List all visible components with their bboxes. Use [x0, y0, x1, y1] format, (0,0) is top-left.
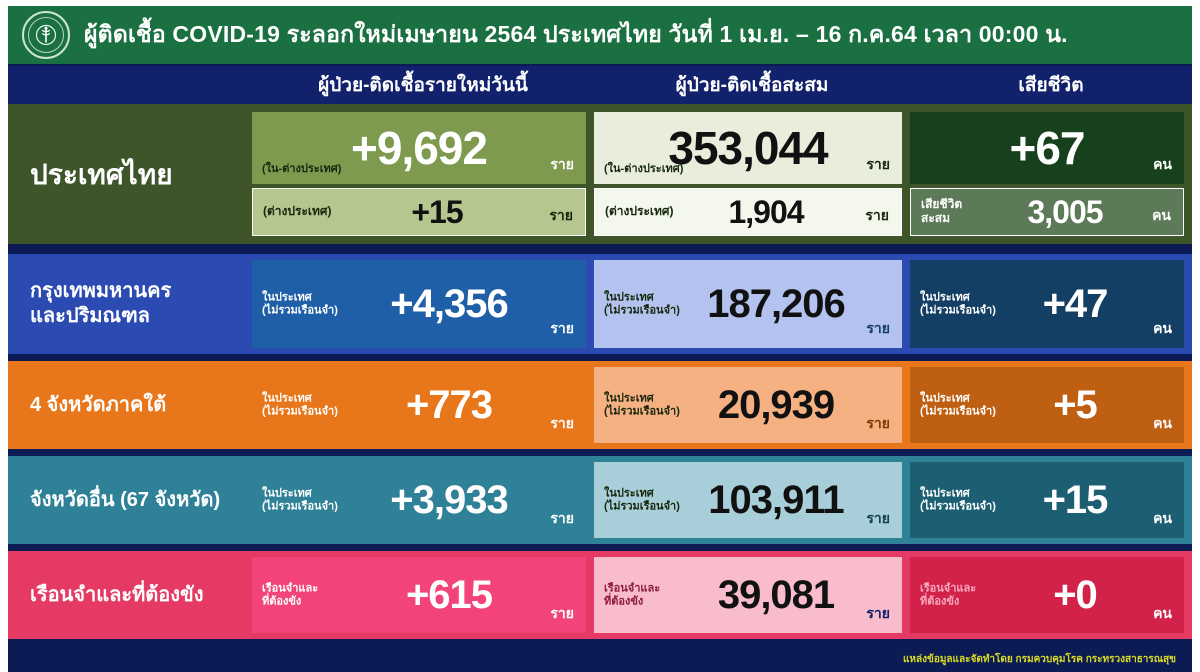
prison-deaths-value: +0	[1053, 573, 1097, 618]
column-header-cumulative-cases: ผู้ป่วย-ติดเชื้อสะสม	[594, 70, 910, 100]
thailand-deaths-cumulative-tag: เสียชีวิต สะสม	[921, 198, 962, 226]
cell-prison-deaths: เรือนจำและ ที่ต้องขัง +0 คน	[910, 557, 1184, 633]
cell-other-cumulative-cases: ในประเทศ (ไม่รวมเรือนจำ) 103,911 ราย	[594, 462, 902, 538]
thailand-new-domestic-unit: ราย	[550, 154, 574, 176]
thailand-new-domestic-tag: (ใน-ต่างประเทศ)	[262, 163, 341, 176]
thailand-new-domestic-value: +9,692	[351, 121, 487, 175]
cell-bangkok-cumulative-cases: ในประเทศ (ไม่รวมเรือนจำ) 187,206 ราย	[594, 260, 902, 348]
cell-bangkok-new-cases: ในประเทศ (ไม่รวมเรือนจำ) +4,356 ราย	[252, 260, 586, 348]
thailand-cumulative-domestic-tag: (ใน-ต่างประเทศ)	[604, 163, 683, 176]
row-label-prisons: เรือนจำและที่ต้องขัง	[8, 551, 252, 639]
other-deaths-value: +15	[1043, 478, 1108, 523]
row-label-bangkok: กรุงเทพมหานคร และปริมณฑล	[8, 254, 252, 354]
thailand-cumulative-domestic-box: (ใน-ต่างประเทศ) 353,044 ราย	[594, 112, 902, 184]
table-row-bangkok: กรุงเทพมหานคร และปริมณฑล ในประเทศ (ไม่รว…	[8, 254, 1192, 354]
bangkok-deaths-unit: คน	[1153, 318, 1172, 340]
cell-other-deaths: ในประเทศ (ไม่รวมเรือนจำ) +15 คน	[910, 462, 1184, 538]
south-deaths-unit: คน	[1153, 413, 1172, 435]
source-attribution: แหล่งข้อมูลและจัดทำโดย กรมควบคุมโรค กระท…	[903, 652, 1176, 667]
prison-cumulative-value: 39,081	[718, 573, 834, 618]
table-row-thailand: ประเทศไทย (ใน-ต่างประเทศ) +9,692 ราย (ต่…	[8, 104, 1192, 244]
other-deaths-unit: คน	[1153, 508, 1172, 530]
thailand-cumulative-domestic-unit: ราย	[866, 154, 890, 176]
thailand-new-abroad-unit: ราย	[549, 205, 573, 227]
cell-thailand-cumulative-cases: (ใน-ต่างประเทศ) 353,044 ราย (ต่างประเทศ)…	[594, 112, 902, 236]
cell-thailand-new-cases: (ใน-ต่างประเทศ) +9,692 ราย (ต่างประเทศ) …	[252, 112, 586, 236]
bangkok-new-value: +4,356	[390, 282, 507, 327]
other-cumulative-value: 103,911	[708, 478, 843, 523]
thailand-deaths-new-value: +67	[1009, 121, 1084, 175]
thailand-deaths-new-unit: คน	[1153, 154, 1172, 176]
bangkok-cumulative-value: 187,206	[707, 282, 845, 327]
prison-new-unit: ราย	[550, 603, 574, 625]
row-label-thailand: ประเทศไทย	[8, 104, 252, 244]
cell-bangkok-deaths: ในประเทศ (ไม่รวมเรือนจำ) +47 คน	[910, 260, 1184, 348]
bangkok-cumulative-unit: ราย	[866, 318, 890, 340]
column-header-deaths: เสียชีวิต	[910, 70, 1192, 100]
thailand-deaths-cumulative-value: 3,005	[1027, 194, 1102, 231]
thailand-cumulative-abroad-unit: ราย	[865, 205, 889, 227]
ministry-of-public-health-emblem-icon	[22, 11, 70, 59]
cell-prison-new-cases: เรือนจำและ ที่ต้องขัง +615 ราย	[252, 557, 586, 633]
bangkok-deaths-value: +47	[1043, 282, 1108, 327]
prison-cumulative-unit: ราย	[866, 603, 890, 625]
table-row-south-provinces: 4 จังหวัดภาคใต้ ในประเทศ (ไม่รวมเรือนจำ)…	[8, 361, 1192, 449]
thailand-new-abroad-box: (ต่างประเทศ) +15 ราย	[252, 188, 586, 236]
row-label-other-provinces: จังหวัดอื่น (67 จังหวัด)	[8, 456, 252, 544]
thailand-cumulative-abroad-value: 1,904	[728, 194, 803, 231]
south-cumulative-value: 20,939	[718, 383, 834, 428]
bangkok-new-unit: ราย	[550, 318, 574, 340]
table-row-other-provinces: จังหวัดอื่น (67 จังหวัด) ในประเทศ (ไม่รว…	[8, 456, 1192, 544]
thailand-new-abroad-value: +15	[411, 194, 462, 231]
thailand-deaths-cumulative-box: เสียชีวิต สะสม 3,005 คน	[910, 188, 1184, 236]
thailand-new-domestic-box: (ใน-ต่างประเทศ) +9,692 ราย	[252, 112, 586, 184]
column-header-new-cases: ผู้ป่วย-ติดเชื้อรายใหม่วันนี้	[252, 70, 594, 100]
poster-header: ผู้ติดเชื้อ COVID-19 ระลอกใหม่เมษายน 256…	[8, 6, 1192, 66]
cell-south-deaths: ในประเทศ (ไม่รวมเรือนจำ) +5 คน	[910, 367, 1184, 443]
other-cumulative-unit: ราย	[866, 508, 890, 530]
cell-south-cumulative-cases: ในประเทศ (ไม่รวมเรือนจำ) 20,939 ราย	[594, 367, 902, 443]
other-new-value: +3,933	[390, 478, 507, 523]
thailand-deaths-cumulative-unit: คน	[1152, 205, 1171, 227]
page-title: ผู้ติดเชื้อ COVID-19 ระลอกใหม่เมษายน 256…	[84, 17, 1068, 53]
prison-deaths-unit: คน	[1153, 603, 1172, 625]
thailand-cumulative-abroad-box: (ต่างประเทศ) 1,904 ราย	[594, 188, 902, 236]
table-row-prisons: เรือนจำและที่ต้องขัง เรือนจำและ ที่ต้องข…	[8, 551, 1192, 639]
row-label-south-provinces: 4 จังหวัดภาคใต้	[8, 361, 252, 449]
column-header-strip: ผู้ป่วย-ติดเชื้อรายใหม่วันนี้ ผู้ป่วย-ติ…	[8, 66, 1192, 104]
south-deaths-value: +5	[1053, 383, 1097, 428]
poster-footer: แหล่งข้อมูลและจัดทำโดย กรมควบคุมโรค กระท…	[8, 646, 1192, 672]
other-new-unit: ราย	[550, 508, 574, 530]
south-cumulative-unit: ราย	[866, 413, 890, 435]
covid-dashboard-poster: ผู้ติดเชื้อ COVID-19 ระลอกใหม่เมษายน 256…	[8, 6, 1192, 662]
cell-south-new-cases: ในประเทศ (ไม่รวมเรือนจำ) +773 ราย	[252, 367, 586, 443]
thailand-new-abroad-tag: (ต่างประเทศ)	[263, 205, 332, 219]
cell-thailand-deaths: +67 คน เสียชีวิต สะสม 3,005 คน	[910, 112, 1184, 236]
prison-new-value: +615	[406, 573, 492, 618]
thailand-deaths-new-box: +67 คน	[910, 112, 1184, 184]
thailand-cumulative-abroad-tag: (ต่างประเทศ)	[605, 205, 674, 219]
south-new-value: +773	[406, 383, 492, 428]
cell-other-new-cases: ในประเทศ (ไม่รวมเรือนจำ) +3,933 ราย	[252, 462, 586, 538]
thailand-cumulative-domestic-value: 353,044	[668, 121, 827, 175]
south-new-unit: ราย	[550, 413, 574, 435]
cell-prison-cumulative-cases: เรือนจำและ ที่ต้องขัง 39,081 ราย	[594, 557, 902, 633]
data-rows: ประเทศไทย (ใน-ต่างประเทศ) +9,692 ราย (ต่…	[8, 104, 1192, 646]
